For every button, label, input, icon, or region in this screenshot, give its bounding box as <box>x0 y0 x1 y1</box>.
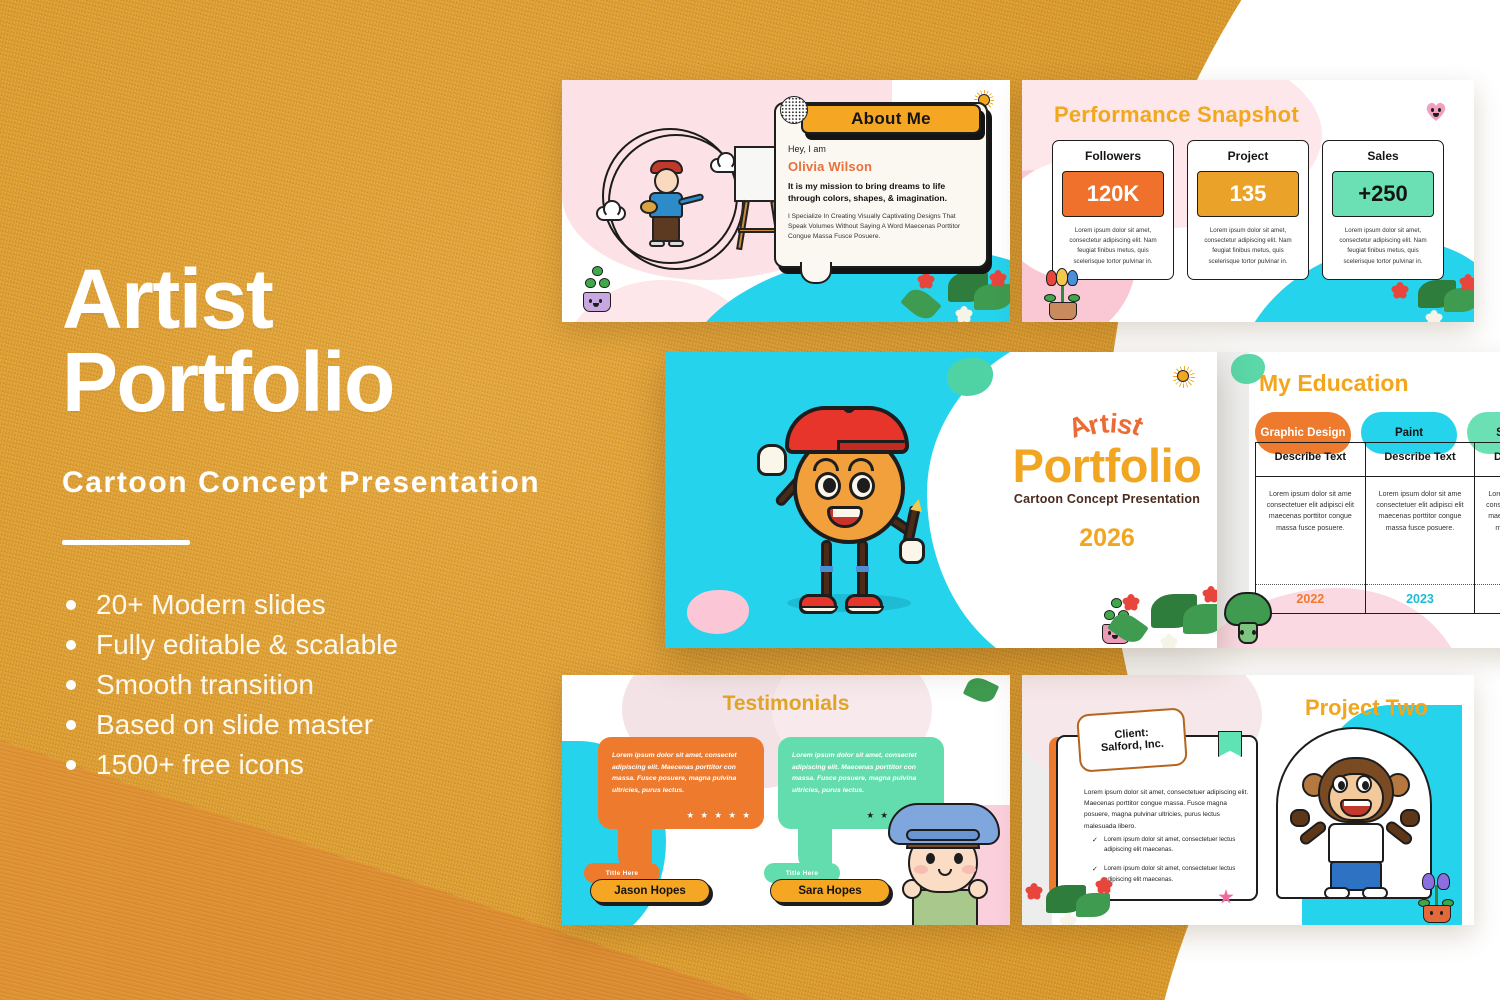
table-cell: Lorem ipsum dolor sit ame consectetuer e… <box>1256 477 1366 585</box>
rating-stars: ★ ★ ★ ★ ★ <box>686 810 752 821</box>
table-cell: Lorem ipsum dolor sit ame consectetuer e… <box>1365 477 1475 585</box>
testimonial-quote: Lorem ipsum dolor sit amet, consectet ad… <box>792 750 930 797</box>
kid-with-hat-icon <box>882 803 1006 925</box>
table-row: Lorem ipsum dolor sit ame consectetuer e… <box>1256 477 1500 585</box>
hero-text-column: Artist Portfolio Cartoon Concept Present… <box>62 258 582 785</box>
testimonial-bubble: Lorem ipsum dolor sit amet, consectet ad… <box>598 737 764 829</box>
hero-subtitle: Cartoon Concept Presentation <box>62 466 582 500</box>
title-line-1: Artist <box>62 258 582 341</box>
slide-title: Performance Snapshot <box>1054 102 1299 128</box>
client-name: Salford, Inc. <box>1101 738 1165 754</box>
about-mission: It is my mission to bring dreams to life… <box>788 180 976 205</box>
about-banner-label: About Me <box>851 109 931 129</box>
slide-about-me[interactable]: About Me Hey, I am Olivia Wilson It is m… <box>562 80 1010 322</box>
list-item: Lorem ipsum dolor sit amet, consectetuer… <box>1092 835 1252 855</box>
hero-artist-word: Artist <box>1021 408 1191 439</box>
potted-plant-icon <box>580 266 614 312</box>
hero-year: 2026 <box>995 524 1217 553</box>
table-cell-year: 2023 <box>1365 585 1475 614</box>
list-item: 20+ Modern slides <box>62 585 582 625</box>
table-header-cell: Describe Text <box>1256 443 1366 477</box>
client-tag: Client: Salford, Inc. <box>1076 707 1188 772</box>
table-header-cell: Describe Text <box>1365 443 1475 477</box>
testimonial-quote: Lorem ipsum dolor sit amet, consectet ad… <box>612 750 750 797</box>
stat-card-list: Followers 120K Lorem ipsum dolor sit ame… <box>1052 140 1444 280</box>
hero-portfolio-word: Portfolio <box>995 438 1217 493</box>
stat-title: Sales <box>1367 149 1398 163</box>
stat-value: 120K <box>1062 171 1164 217</box>
about-body: I Specialize In Creating Visually Captiv… <box>788 212 976 242</box>
feature-list: 20+ Modern slides Fully editable & scala… <box>62 585 582 785</box>
foliage-decor <box>1022 867 1126 925</box>
about-name: Olivia Wilson <box>788 159 976 174</box>
monkey-frame <box>1276 727 1432 899</box>
slide-title-hero[interactable]: Artist Portfolio Cartoon Concept Present… <box>665 352 1217 648</box>
title-line-2: Portfolio <box>62 341 582 424</box>
list-item: 1500+ free icons <box>62 745 582 785</box>
education-table: Describe Text Describe Text Describe Tex… <box>1255 442 1500 614</box>
stat-desc: Lorem ipsum dolor sit amet, consectetur … <box>1197 226 1299 267</box>
stat-title: Followers <box>1085 149 1141 163</box>
slide-performance-snapshot[interactable]: Performance Snapshot Followers 120K Lore… <box>1022 80 1474 322</box>
list-item: Based on slide master <box>62 705 582 745</box>
foliage-decor <box>1105 576 1217 648</box>
list-item: Fully editable & scalable <box>62 625 582 665</box>
stat-card[interactable]: Project 135 Lorem ipsum dolor sit amet, … <box>1187 140 1309 280</box>
stat-value: +250 <box>1332 171 1434 217</box>
stat-desc: Lorem ipsum dolor sit amet, consectetur … <box>1332 226 1434 267</box>
painter-illustration <box>640 152 726 248</box>
slide-project-two[interactable]: Project Two Client: Salford, Inc. Lorem … <box>1022 675 1474 925</box>
testimonial-name-badge[interactable]: Sara Hopes <box>770 879 890 903</box>
tulip-pot-icon <box>1044 268 1082 320</box>
hero-artist-text: Artist <box>1068 408 1145 439</box>
foliage-decor <box>1370 264 1474 322</box>
flower-pot-icon <box>1418 871 1456 923</box>
heart-face-icon <box>1424 100 1448 122</box>
hero-slide-subtitle: Cartoon Concept Presentation <box>995 492 1217 506</box>
testimonial-name-badge[interactable]: Jason Hopes <box>590 879 710 903</box>
slide-title: Testimonials <box>562 692 1010 716</box>
sun-icon <box>1173 366 1195 388</box>
list-item: Smooth transition <box>62 665 582 705</box>
dotted-circle-icon <box>780 96 808 124</box>
divider <box>62 540 190 545</box>
stat-title: Project <box>1228 149 1269 163</box>
stat-value: 135 <box>1197 171 1299 217</box>
stat-card[interactable]: Followers 120K Lorem ipsum dolor sit ame… <box>1052 140 1174 280</box>
table-row-header: Describe Text Describe Text Describe Tex… <box>1256 443 1500 477</box>
page-title: Artist Portfolio <box>62 258 582 424</box>
broccoli-icon <box>1222 592 1274 648</box>
monkey-icon <box>1304 751 1408 899</box>
about-banner: About Me <box>801 104 981 134</box>
table-row-years: 2022 2023 2024 <box>1256 585 1500 614</box>
cloud-icon <box>596 206 626 221</box>
slide-title: My Education <box>1259 370 1409 397</box>
stat-card[interactable]: Sales +250 Lorem ipsum dolor sit amet, c… <box>1322 140 1444 280</box>
about-greeting: Hey, I am <box>788 144 976 154</box>
about-card: About Me Hey, I am Olivia Wilson It is m… <box>774 102 992 272</box>
slide-title: Project Two <box>1305 695 1428 721</box>
orange-mascot-icon <box>753 398 943 624</box>
slide-testimonials[interactable]: Testimonials Lorem ipsum dolor sit amet,… <box>562 675 1010 925</box>
stat-desc: Lorem ipsum dolor sit amet, consectetur … <box>1062 226 1164 267</box>
table-header-cell: Describe Text <box>1475 443 1500 477</box>
table-cell-year: 2024 <box>1475 585 1500 614</box>
table-cell: Lorem ipsum dolor sit ame consectetuer e… <box>1475 477 1500 585</box>
project-body-text: Lorem ipsum dolor sit amet, consectetuer… <box>1084 787 1250 832</box>
